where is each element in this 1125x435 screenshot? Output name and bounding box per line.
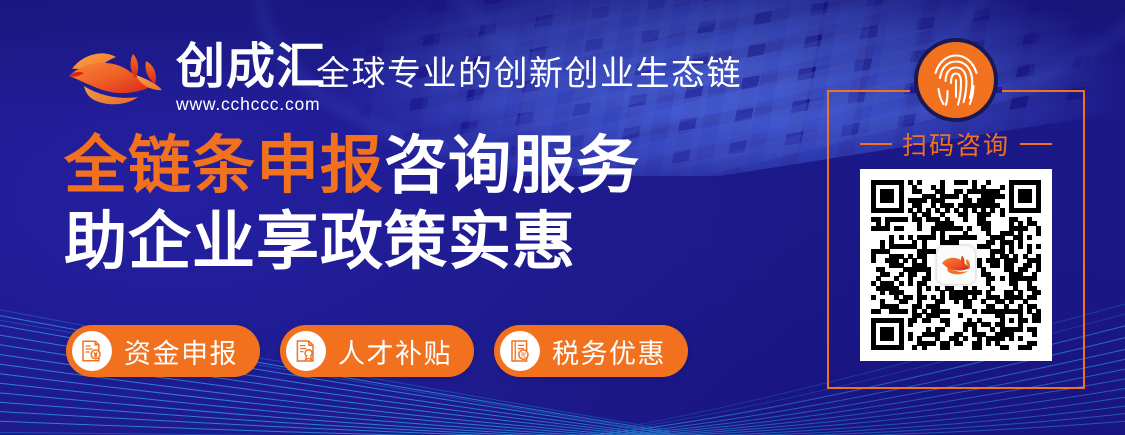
qr-code-image bbox=[871, 180, 1041, 350]
promo-banner: 创成汇 www.cchccc.com 全球专业的创新创业生态链 全链条申报咨询服… bbox=[0, 0, 1125, 435]
left-content: 创成汇 www.cchccc.com 全球专业的创新创业生态链 全链条申报咨询服… bbox=[0, 0, 800, 435]
service-pill-talent[interactable]: 人才补贴 bbox=[280, 325, 474, 377]
funding-document-icon bbox=[72, 331, 112, 371]
service-pill-tax[interactable]: 税 税务优惠 bbox=[494, 325, 688, 377]
qr-center-phoenix-logo-icon bbox=[936, 245, 976, 285]
qr-caption-row: 扫码咨询 bbox=[827, 126, 1085, 162]
brand-logo[interactable]: 创成汇 www.cchccc.com bbox=[66, 38, 326, 118]
caption-rule-right bbox=[1020, 143, 1052, 145]
tagline: 全球专业的创新创业生态链 bbox=[316, 57, 742, 91]
service-pill-label: 税务优惠 bbox=[552, 332, 666, 371]
qr-code-container[interactable] bbox=[860, 169, 1052, 361]
headline-block: 全链条申报咨询服务 助企业享政策实惠 bbox=[64, 128, 640, 280]
brand-website-url: www.cchccc.com bbox=[176, 94, 326, 115]
fingerprint-icon bbox=[914, 38, 998, 122]
svg-text:税: 税 bbox=[521, 351, 527, 359]
caption-rule-left bbox=[860, 143, 892, 145]
service-pill-list: 资金申报 人才补贴 bbox=[66, 325, 688, 377]
tax-document-icon: 税 bbox=[500, 331, 540, 371]
service-pill-label: 资金申报 bbox=[124, 332, 238, 371]
service-pill-label: 人才补贴 bbox=[338, 332, 452, 371]
qr-consult-panel: 扫码咨询 bbox=[827, 90, 1085, 389]
headline-line-1: 全链条申报咨询服务 bbox=[64, 128, 640, 204]
brand-name-cn: 创成汇 bbox=[176, 43, 326, 90]
certificate-award-icon bbox=[286, 331, 326, 371]
headline-line-2: 助企业享政策实惠 bbox=[64, 204, 640, 280]
qr-caption-text: 扫码咨询 bbox=[902, 126, 1010, 162]
headline-highlight: 全链条申报 bbox=[64, 129, 384, 202]
service-pill-funding[interactable]: 资金申报 bbox=[66, 325, 260, 377]
phoenix-bird-logo-icon bbox=[66, 45, 170, 111]
brand-text-block: 创成汇 www.cchccc.com bbox=[176, 43, 326, 115]
headline-line-1-rest: 咨询服务 bbox=[384, 129, 640, 202]
